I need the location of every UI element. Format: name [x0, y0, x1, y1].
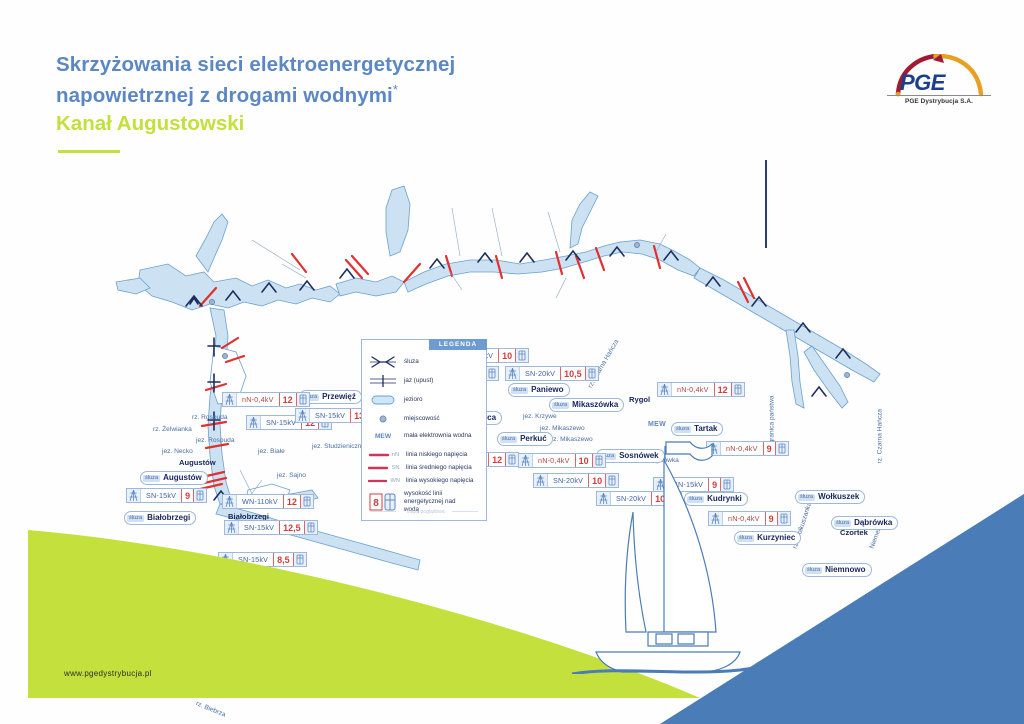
- legend-item-label: miejscowość: [404, 415, 440, 423]
- power-line-crossing-chip[interactable]: SN-20kV10,5: [505, 366, 599, 381]
- power-line-crossing-chip[interactable]: nN-0,4kV12: [657, 382, 745, 397]
- power-line-crossing-chip[interactable]: nN-0,4kV12: [222, 392, 310, 407]
- legend-item-label: jaz (upust): [404, 377, 433, 385]
- pge-logo: PGE PGE Dystrybucja S.A.: [884, 54, 994, 110]
- lake-icon: [368, 394, 398, 406]
- page-title: Skrzyżowania sieci elektroenergetycznej …: [56, 52, 576, 136]
- locality-label: Rygol: [629, 395, 650, 404]
- locality-dot: [844, 372, 850, 378]
- voltage-label: nN-0,4kV: [237, 393, 279, 406]
- clearance-height-value: 12: [714, 383, 732, 396]
- sluice-tag: śluza: [552, 402, 569, 409]
- pylon-icon: [296, 409, 310, 422]
- sluice-name: Mikaszówka: [572, 399, 618, 411]
- height-gauge-icon: [732, 383, 744, 396]
- clearance-height-value: 10,5: [560, 367, 586, 380]
- height-gauge-icon: [586, 367, 598, 380]
- weir-icon: [368, 375, 398, 387]
- clearance-height-value: 12: [279, 393, 297, 406]
- height-gauge-icon: [297, 393, 309, 406]
- title-line-2: napowietrznej z drogami wodnymi*: [56, 77, 576, 108]
- pylon-icon: [247, 416, 261, 429]
- legend-header: LEGENDA: [429, 339, 487, 350]
- title-footnote-marker: *: [393, 82, 398, 97]
- sluice-name: Paniewo: [531, 384, 563, 396]
- title-underline-rule: [58, 150, 120, 153]
- logo-divider: [887, 95, 991, 96]
- locality-icon: [368, 413, 398, 425]
- logo-company-name: PGE Dystrybucja S.A.: [884, 98, 994, 105]
- voltage-label: SN-15kV: [310, 409, 350, 422]
- sluice-name: Przewięź: [322, 391, 356, 403]
- poster-page: Skrzyżowania sieci elektroenergetycznej …: [0, 0, 1024, 724]
- sluice-tag: śluza: [511, 387, 528, 394]
- clearance-height-value: 10: [498, 349, 516, 362]
- water-body-label: jez. Krzywe: [523, 413, 557, 420]
- sluice-chip[interactable]: śluzaMikaszówka: [549, 398, 624, 412]
- water-body-label: rz. Rospuda: [192, 414, 228, 421]
- title-line-1: Skrzyżowania sieci elektroenergetycznej: [56, 52, 576, 77]
- pylon-icon: [223, 393, 237, 406]
- legend-item: jaz (upust): [368, 375, 480, 387]
- pylon-icon: [658, 383, 672, 396]
- height-gauge-icon: [486, 367, 498, 380]
- pge-wordmark: PGE: [900, 70, 945, 96]
- sailboat-illustration: [560, 424, 830, 674]
- pylon-icon: [506, 367, 520, 380]
- legend-item-label: śluza: [404, 358, 419, 366]
- locality-dot: [634, 242, 640, 248]
- height-gauge-icon: [516, 349, 528, 362]
- legend-item: śluza: [368, 356, 480, 368]
- voltage-label: nN-0,4kV: [672, 383, 714, 396]
- legend-item: jezioro: [368, 394, 480, 406]
- locality-dot: [222, 353, 228, 359]
- legend-item: miejscowość: [368, 413, 480, 425]
- footer-website-url[interactable]: www.pgedystrybucja.pl: [64, 669, 152, 678]
- voltage-label: SN-20kV: [520, 367, 560, 380]
- locality-dot: [209, 299, 215, 305]
- sluice-chip[interactable]: śluzaPaniewo: [508, 383, 570, 397]
- title-subtitle: Kanał Augustowski: [56, 111, 576, 136]
- decorative-waves: [0, 430, 1024, 724]
- legend-item-label: jezioro: [404, 396, 423, 404]
- sluice-icon: [368, 356, 398, 368]
